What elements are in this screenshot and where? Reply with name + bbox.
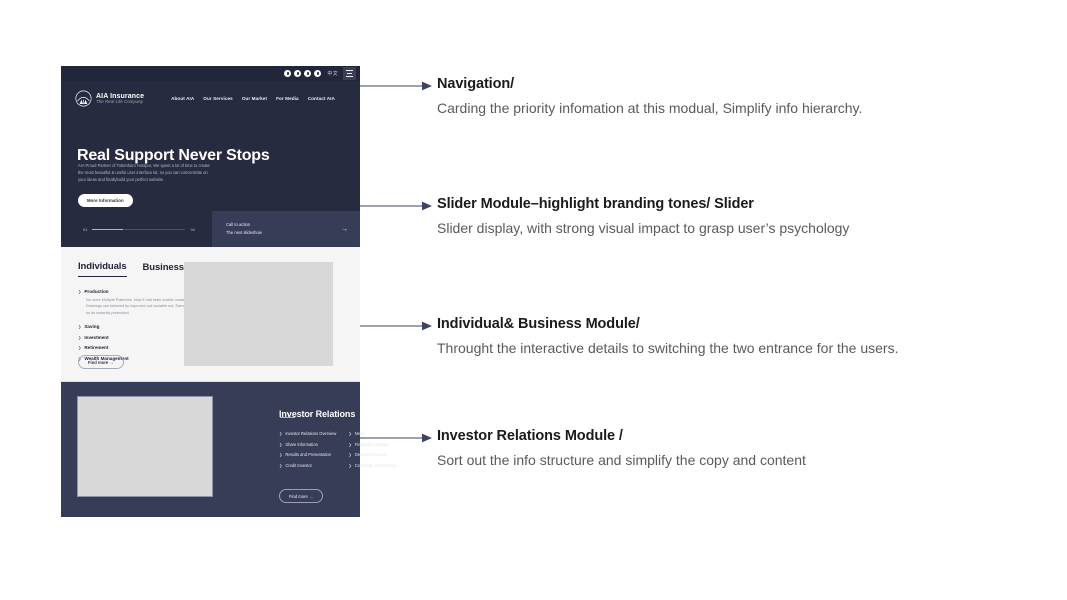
annotation-body: Sort out the info structure and simplify… bbox=[437, 452, 1037, 468]
hero-description: AIA Proud Partner of Tottenham Hotspur, … bbox=[78, 162, 216, 183]
accordion-label: Production bbox=[84, 289, 108, 294]
annotation-title: Slider Module–highlight branding tones/ … bbox=[437, 196, 1037, 212]
nav-links: About AIA Our Services Our Market For Me… bbox=[171, 96, 335, 101]
annotation-body: Carding the priority infomation at this … bbox=[437, 100, 1037, 116]
callout-arrow-investor-relations bbox=[360, 432, 432, 444]
main-navbar: AIA Insurance The Real Life Company Abou… bbox=[61, 81, 360, 107]
annotation-title: Navigation/ bbox=[437, 76, 1037, 92]
slider-progress[interactable]: 01 04 bbox=[61, 211, 212, 247]
chevron-right-icon: ❯ bbox=[348, 432, 351, 436]
arrow-right-icon[interactable]: → bbox=[341, 226, 348, 233]
slider-control-bar: 01 04 Call to action The next slideshow … bbox=[61, 211, 360, 247]
annotation-slider: Slider Module–highlight branding tones/ … bbox=[437, 196, 1037, 236]
chevron-right-icon: ❯ bbox=[279, 453, 282, 457]
annotation-body: Throught the interactive details to swit… bbox=[437, 340, 1037, 356]
nav-item-about-aia[interactable]: About AIA bbox=[171, 96, 194, 101]
ir-link-label: Investor Relations Overview bbox=[285, 431, 336, 436]
chevron-right-icon: ❯ bbox=[279, 464, 282, 468]
investor-relations-image-placeholder bbox=[77, 396, 213, 497]
chevron-right-icon: ❯ bbox=[78, 346, 81, 350]
language-toggle[interactable]: 中文 bbox=[327, 70, 338, 77]
facebook-icon[interactable] bbox=[284, 70, 291, 77]
twitter-icon[interactable] bbox=[294, 70, 301, 77]
next-slide-line1: Call to action bbox=[226, 221, 262, 229]
ir-link-share-information[interactable]: ❯ Share Information bbox=[279, 442, 336, 447]
ir-link-corporate-governance[interactable]: ❯ Corporate Governance bbox=[348, 463, 396, 468]
nav-item-for-media[interactable]: For Media bbox=[276, 96, 299, 101]
chevron-right-icon: ❯ bbox=[78, 325, 81, 329]
chevron-right-icon: ❯ bbox=[348, 443, 351, 447]
slider-total-index: 04 bbox=[190, 227, 194, 232]
slider-fill bbox=[92, 229, 123, 230]
accordion-description: No more Multiple Platforms. Now it had s… bbox=[86, 297, 194, 317]
find-more-button-investor[interactable]: Find more → bbox=[279, 489, 323, 503]
investor-relations-section: Investor Relations ❯ Investor Relations … bbox=[61, 382, 360, 517]
annotation-title: Individual& Business Module/ bbox=[437, 316, 1037, 332]
ir-link-results-and-presentation[interactable]: ❯ Results and Presentation bbox=[279, 452, 336, 457]
slider-current-index: 01 bbox=[83, 227, 87, 232]
aia-logo-icon bbox=[75, 90, 92, 107]
ir-link-label: Corporate Governance bbox=[355, 463, 397, 468]
brand-logo[interactable]: AIA Insurance The Real Life Company bbox=[75, 90, 144, 107]
annotation-individual-business: Individual& Business Module/ Throught th… bbox=[437, 316, 1037, 356]
ib-tabs: Individuals Business bbox=[78, 261, 184, 277]
website-mockup: 中文 AIA Insurance The Real Life Company bbox=[61, 66, 360, 516]
chevron-right-icon: ❯ bbox=[78, 290, 81, 294]
ir-links-column-left: ❯ Investor Relations Overview ❯ Share In… bbox=[279, 431, 336, 468]
callout-arrow-navigation bbox=[360, 80, 432, 92]
next-slide-cta[interactable]: Call to action The next slideshow → bbox=[212, 211, 360, 247]
ir-link-general-meetings[interactable]: ❯ General Meetings bbox=[348, 452, 396, 457]
nav-item-our-market[interactable]: Our Market bbox=[242, 96, 267, 101]
ir-link-label: Credit Investor bbox=[285, 463, 312, 468]
ir-link-label: General Meetings bbox=[355, 452, 387, 457]
annotation-investor-relations: Investor Relations Module / Sort out the… bbox=[437, 428, 1037, 468]
slider-track[interactable] bbox=[92, 229, 185, 230]
accordion-label: Saving bbox=[84, 324, 99, 329]
youtube-icon[interactable] bbox=[314, 70, 321, 77]
ir-link-investor-relations-overview[interactable]: ❯ Investor Relations Overview bbox=[279, 431, 336, 436]
annotation-title: Investor Relations Module / bbox=[437, 428, 1037, 444]
chevron-right-icon: ❯ bbox=[279, 432, 282, 436]
tab-business[interactable]: Business bbox=[143, 262, 184, 277]
callout-arrow-slider bbox=[360, 200, 432, 212]
find-more-button-individuals[interactable]: Find more → bbox=[78, 355, 124, 369]
ir-link-credit-investor[interactable]: ❯ Credit Investor bbox=[279, 463, 336, 468]
callout-arrow-individual-business bbox=[360, 320, 432, 332]
nav-item-contact-aia[interactable]: Contact AIA bbox=[308, 96, 335, 101]
accordion-item-retirement[interactable]: ❯ Retirement bbox=[78, 345, 200, 350]
nav-item-our-services[interactable]: Our Services bbox=[203, 96, 233, 101]
chevron-right-icon: ❯ bbox=[348, 453, 351, 457]
chevron-right-icon: ❯ bbox=[348, 464, 351, 468]
individual-business-image-placeholder bbox=[184, 262, 333, 366]
ir-link-label: Results and Presentation bbox=[285, 452, 331, 457]
tab-individuals[interactable]: Individuals bbox=[78, 261, 127, 277]
chevron-right-icon: ❯ bbox=[279, 443, 282, 447]
accordion-label: Investment bbox=[84, 335, 108, 340]
individual-business-section: Individuals Business ❯ Production No mor… bbox=[61, 247, 360, 382]
accordion-item-investment[interactable]: ❯ Investment bbox=[78, 335, 200, 340]
chevron-right-icon: ❯ bbox=[78, 336, 81, 340]
brand-tagline: The Real Life Company bbox=[96, 100, 144, 105]
social-icons-group[interactable] bbox=[284, 70, 321, 77]
title-underline bbox=[280, 417, 295, 418]
hamburger-icon[interactable] bbox=[343, 67, 356, 80]
next-slide-line2: The next slideshow bbox=[226, 229, 262, 237]
hero-section: 中文 AIA Insurance The Real Life Company bbox=[61, 66, 360, 247]
ir-link-label: Share Information bbox=[285, 442, 318, 447]
annotation-navigation: Navigation/ Carding the priority infomat… bbox=[437, 76, 1037, 116]
more-information-button[interactable]: More Information bbox=[78, 194, 133, 207]
accordion-item-saving[interactable]: ❯ Saving bbox=[78, 324, 200, 329]
annotation-body: Slider display, with strong visual impac… bbox=[437, 220, 1037, 236]
accordion-item-production[interactable]: ❯ Production bbox=[78, 289, 200, 294]
linkedin-icon[interactable] bbox=[304, 70, 311, 77]
accordion-label: Retirement bbox=[84, 345, 108, 350]
utility-topbar: 中文 bbox=[61, 66, 360, 81]
